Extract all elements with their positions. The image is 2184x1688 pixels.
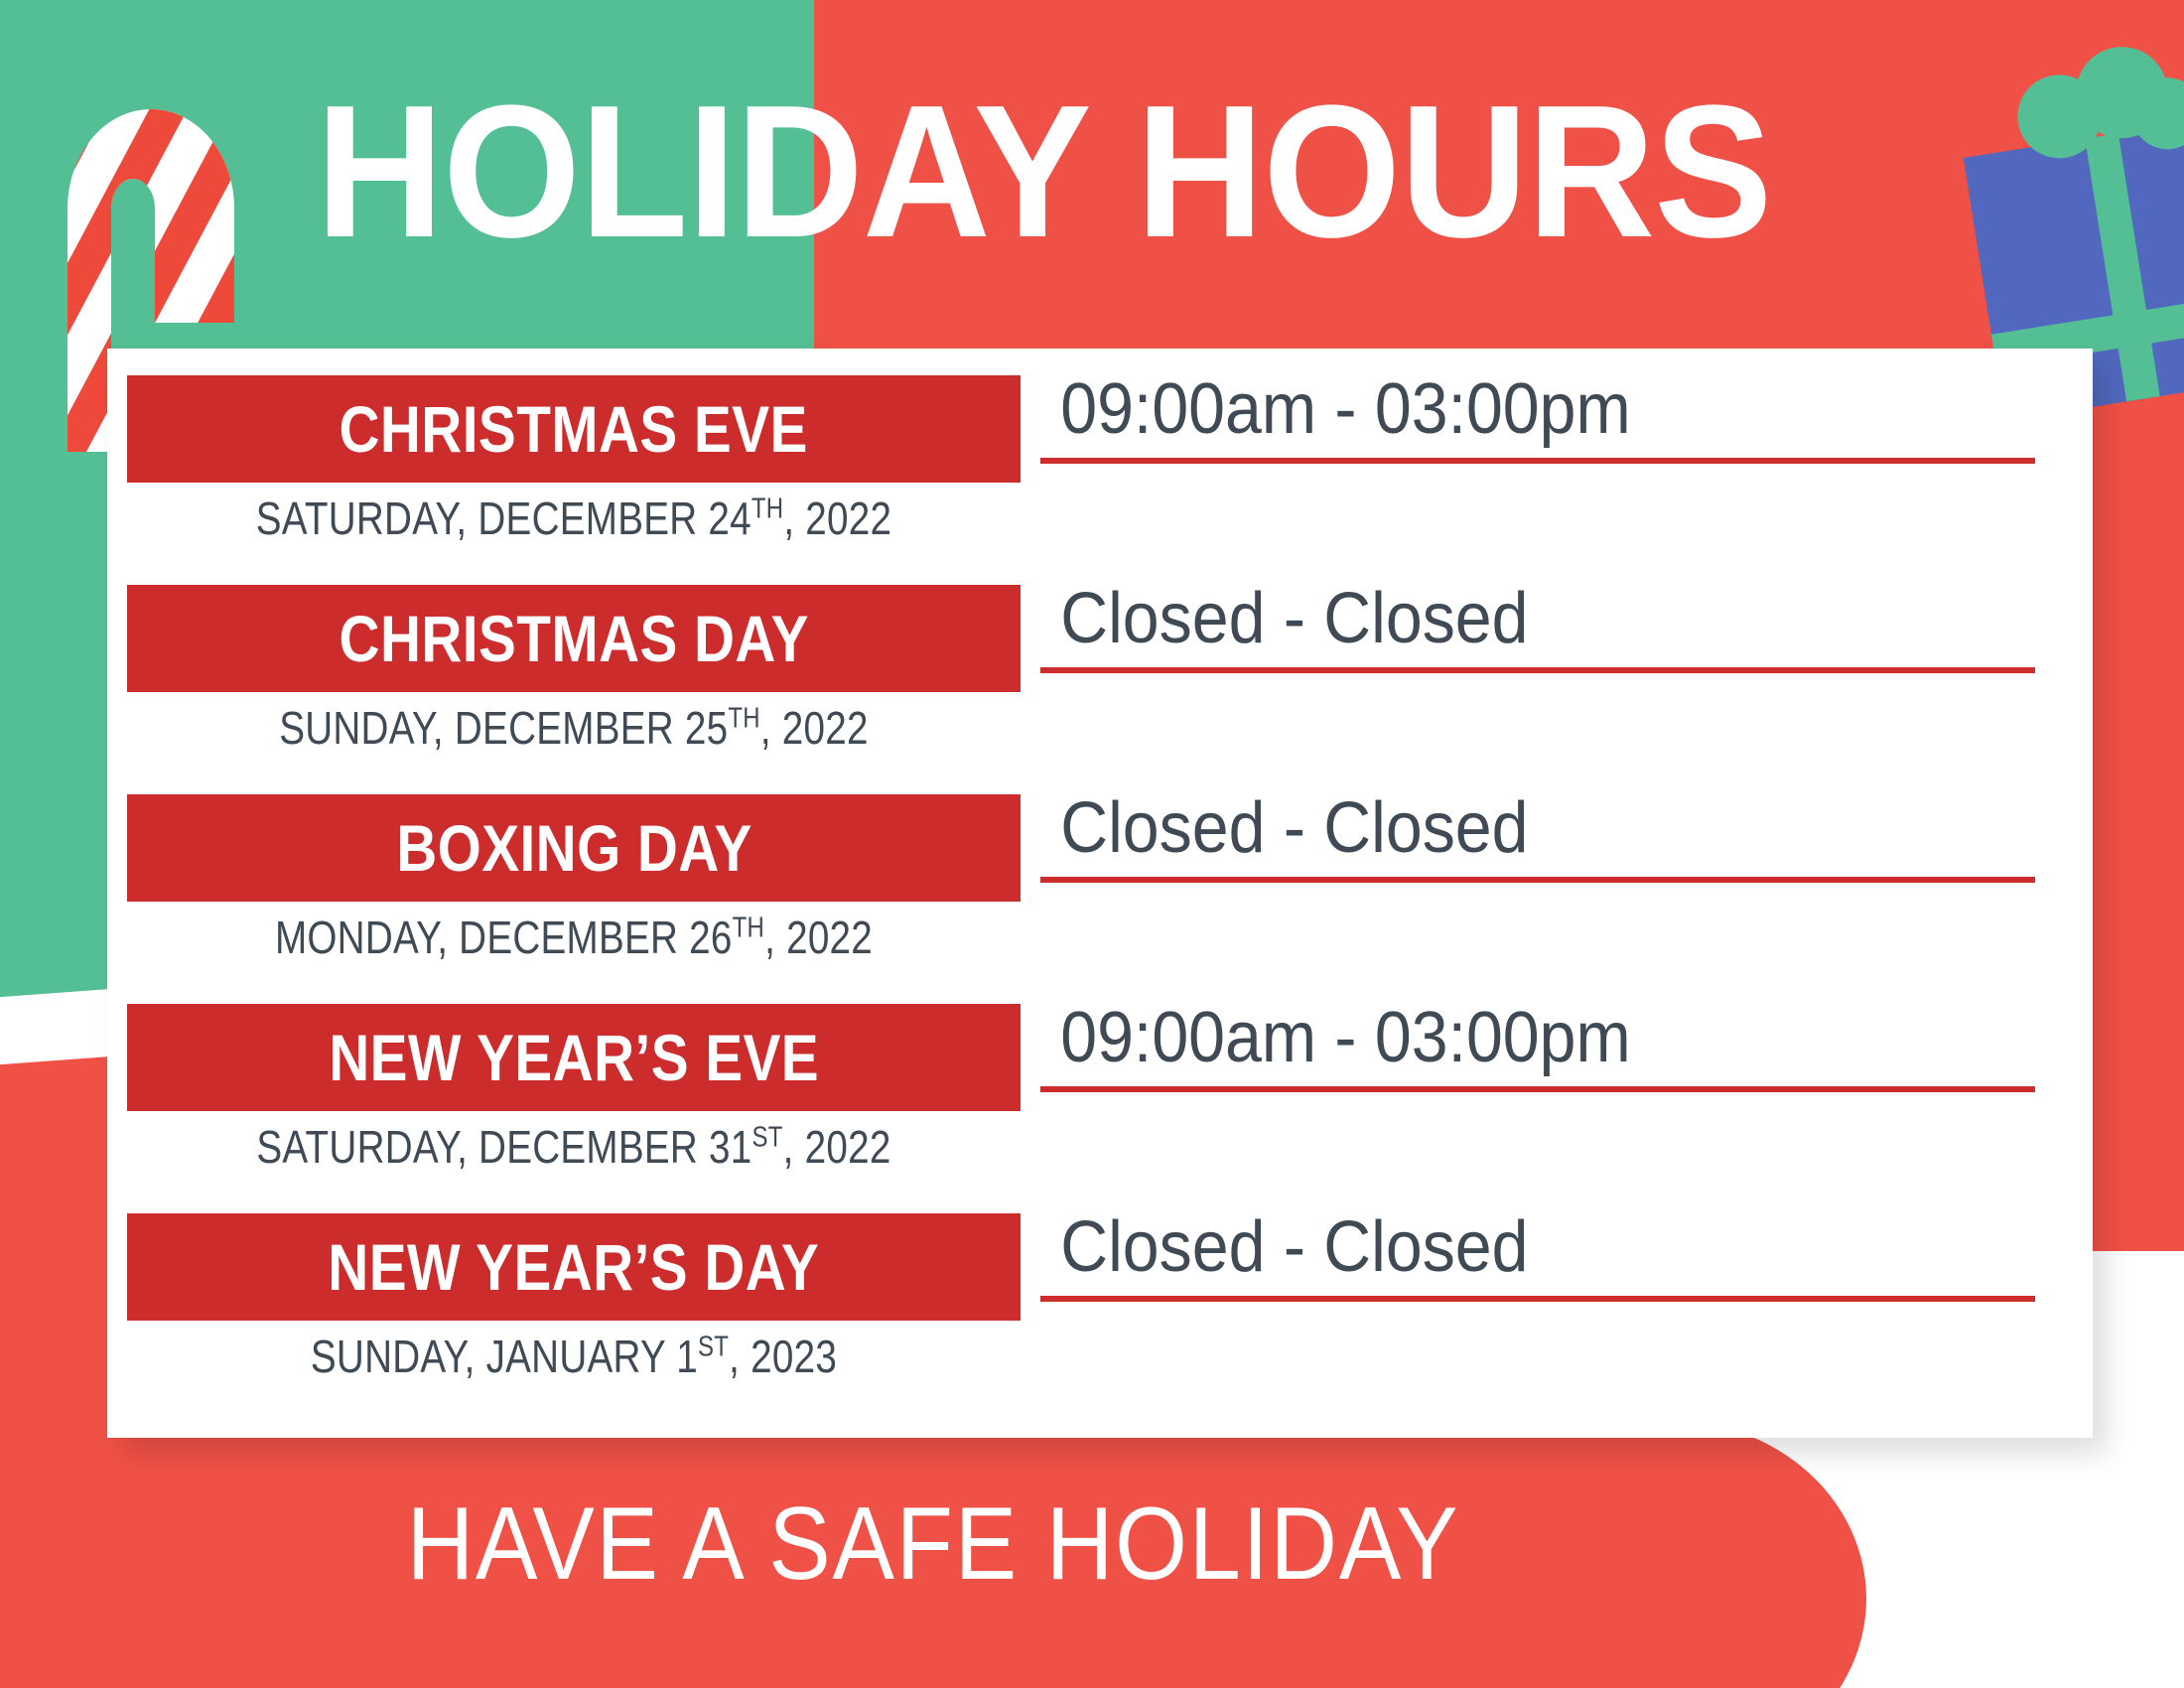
holiday-date-year: , 2022 bbox=[764, 912, 873, 963]
hours-underline bbox=[1040, 667, 2035, 673]
holiday-date: SUNDAY, DECEMBER 25TH, 2022 bbox=[199, 703, 949, 753]
holiday-date-year: , 2022 bbox=[783, 492, 891, 544]
holiday-date-ordinal: TH bbox=[728, 703, 759, 735]
schedule-row: CHRISTMAS DAY SUNDAY, DECEMBER 25TH, 202… bbox=[107, 558, 2093, 768]
schedule-row: CHRISTMAS EVE SATURDAY, DECEMBER 24TH, 2… bbox=[107, 349, 2093, 558]
hours-underline bbox=[1040, 1086, 2035, 1092]
holiday-date-main: SUNDAY, DECEMBER 25 bbox=[279, 702, 728, 754]
holiday-name: NEW YEAR’S EVE bbox=[329, 1025, 819, 1090]
schedule-row: BOXING DAY MONDAY, DECEMBER 26TH, 2022 C… bbox=[107, 768, 2093, 977]
holiday-hours-poster: HOLIDAY HOURS CHRISTMAS EVE SATURDAY, DE… bbox=[0, 0, 2184, 1688]
hours-value: 09:00am - 03:00pm bbox=[1040, 995, 1990, 1080]
holiday-date-year: , 2022 bbox=[783, 1121, 891, 1173]
holiday-name: CHRISTMAS DAY bbox=[339, 606, 808, 671]
hours-card: CHRISTMAS EVE SATURDAY, DECEMBER 24TH, 2… bbox=[107, 349, 2093, 1438]
hours-block: Closed - Closed bbox=[1040, 785, 2073, 883]
holiday-name-band: CHRISTMAS EVE bbox=[127, 375, 1021, 483]
hours-value: Closed - Closed bbox=[1040, 576, 1990, 661]
holiday-date-year: , 2022 bbox=[760, 702, 869, 754]
hours-block: Closed - Closed bbox=[1040, 1204, 2073, 1302]
holiday-date-ordinal: TH bbox=[751, 493, 783, 525]
hours-value: 09:00am - 03:00pm bbox=[1040, 366, 1990, 452]
hours-value: Closed - Closed bbox=[1040, 1204, 1990, 1290]
holiday-date-ordinal: ST bbox=[698, 1332, 729, 1363]
holiday-date-main: SATURDAY, DECEMBER 31 bbox=[256, 1121, 751, 1173]
holiday-date: SATURDAY, DECEMBER 31ST, 2022 bbox=[199, 1122, 949, 1172]
holiday-name: NEW YEAR’S DAY bbox=[329, 1234, 820, 1300]
holiday-name: CHRISTMAS EVE bbox=[340, 396, 808, 462]
holiday-date-main: SUNDAY, JANUARY 1 bbox=[311, 1331, 698, 1382]
holiday-date: SUNDAY, JANUARY 1ST, 2023 bbox=[199, 1332, 949, 1381]
holiday-date-year: , 2023 bbox=[729, 1331, 837, 1382]
hours-underline bbox=[1040, 1296, 2035, 1302]
holiday-name-band: NEW YEAR’S DAY bbox=[127, 1213, 1021, 1321]
holiday-date: MONDAY, DECEMBER 26TH, 2022 bbox=[199, 913, 949, 962]
schedule-row: NEW YEAR’S DAY SUNDAY, JANUARY 1ST, 2023… bbox=[107, 1187, 2093, 1400]
footer-message: HAVE A SAFE HOLIDAY bbox=[93, 1489, 1773, 1599]
hours-block: Closed - Closed bbox=[1040, 576, 2073, 673]
holiday-date-ordinal: TH bbox=[733, 913, 764, 944]
holiday-date-ordinal: ST bbox=[752, 1122, 783, 1154]
holiday-name-band: CHRISTMAS DAY bbox=[127, 585, 1021, 692]
holiday-name-band: BOXING DAY bbox=[127, 794, 1021, 902]
holiday-date-main: MONDAY, DECEMBER 26 bbox=[275, 912, 733, 963]
hours-value: Closed - Closed bbox=[1040, 785, 1990, 871]
holiday-date: SATURDAY, DECEMBER 24TH, 2022 bbox=[199, 493, 949, 543]
schedule-list: CHRISTMAS EVE SATURDAY, DECEMBER 24TH, 2… bbox=[107, 349, 2093, 1438]
schedule-row: NEW YEAR’S EVE SATURDAY, DECEMBER 31ST, … bbox=[107, 977, 2093, 1187]
holiday-name-band: NEW YEAR’S EVE bbox=[127, 1004, 1021, 1111]
hours-underline bbox=[1040, 877, 2035, 883]
hours-block: 09:00am - 03:00pm bbox=[1040, 366, 2073, 464]
holiday-name: BOXING DAY bbox=[396, 815, 752, 881]
hours-block: 09:00am - 03:00pm bbox=[1040, 995, 2073, 1092]
page-title: HOLIDAY HOURS bbox=[316, 77, 1883, 266]
holiday-date-main: SATURDAY, DECEMBER 24 bbox=[256, 492, 751, 544]
hours-underline bbox=[1040, 458, 2035, 464]
